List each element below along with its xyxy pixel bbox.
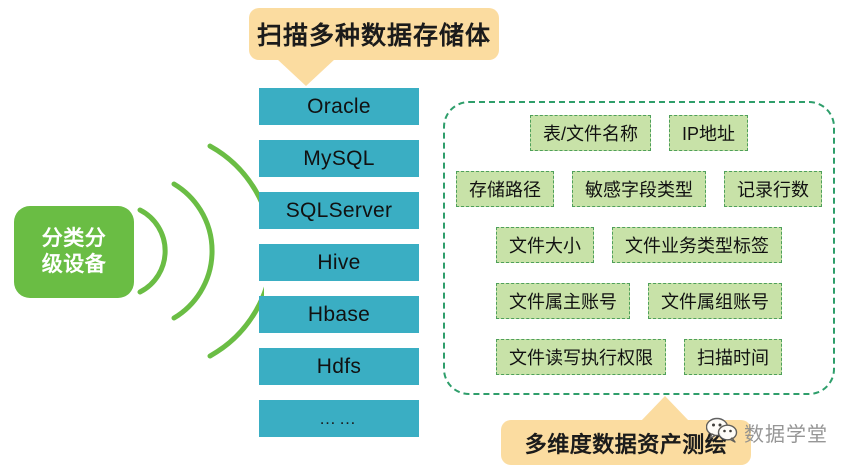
attribute-tag-table-file-name[interactable]: 表/文件名称 — [530, 115, 651, 151]
attribute-tag-sensitive-field-type[interactable]: 敏感字段类型 — [572, 171, 706, 207]
storage-item-label: MySQL — [303, 147, 375, 171]
storage-item-label: SQLServer — [286, 199, 393, 223]
attribute-tag-file-rwx-permission[interactable]: 文件读写执行权限 — [496, 339, 666, 375]
bottom-callout-pointer — [641, 396, 689, 421]
attribute-tag-label: 敏感字段类型 — [585, 176, 693, 202]
storage-item-label: Oracle — [307, 95, 371, 119]
attribute-tag-label: 记录行数 — [737, 176, 809, 202]
attribute-row: 文件读写执行权限 扫描时间 — [445, 339, 833, 375]
attribute-tag-label: 文件属主账号 — [509, 288, 617, 314]
storage-item-sqlserver[interactable]: SQLServer — [259, 192, 419, 229]
storage-item-oracle[interactable]: Oracle — [259, 88, 419, 125]
storage-item-label: Hive — [317, 251, 360, 275]
diagram-canvas: 扫描多种数据存储体 分类分级设备 Oracle MySQL SQLServer … — [0, 0, 868, 473]
attribute-tag-scan-time[interactable]: 扫描时间 — [684, 339, 782, 375]
attribute-tag-file-business-type-label[interactable]: 文件业务类型标签 — [612, 227, 782, 263]
storage-item-more[interactable]: …… — [259, 400, 419, 437]
attribute-row: 存储路径 敏感字段类型 记录行数 — [445, 171, 833, 207]
watermark-text: 数据学堂 — [744, 418, 828, 447]
attribute-tag-label: 文件业务类型标签 — [625, 232, 769, 258]
attribute-tag-label: 文件属组账号 — [661, 288, 769, 314]
attribute-panel: 表/文件名称 IP地址 存储路径 敏感字段类型 记录行数 文件大小 文件业务类型… — [443, 101, 835, 395]
attribute-tag-record-count[interactable]: 记录行数 — [724, 171, 822, 207]
bottom-callout-label: 多维度数据资产测绘 — [525, 427, 728, 459]
wechat-icon — [706, 417, 738, 448]
storage-type-list: Oracle MySQL SQLServer Hive Hbase Hdfs …… — [259, 88, 419, 452]
top-callout-label: 扫描多种数据存储体 — [257, 16, 491, 52]
watermark: 数据学堂 — [706, 417, 828, 448]
storage-item-label: Hdfs — [317, 355, 361, 379]
attribute-tag-storage-path[interactable]: 存储路径 — [456, 171, 554, 207]
attribute-row: 文件大小 文件业务类型标签 — [445, 227, 833, 263]
attribute-tag-label: 文件大小 — [509, 232, 581, 258]
storage-item-hive[interactable]: Hive — [259, 244, 419, 281]
top-callout: 扫描多种数据存储体 — [249, 8, 499, 60]
top-callout-pointer — [277, 59, 335, 86]
attribute-tag-label: 文件读写执行权限 — [509, 344, 653, 370]
attribute-tag-label: IP地址 — [682, 120, 735, 146]
storage-item-mysql[interactable]: MySQL — [259, 140, 419, 177]
attribute-row: 文件属主账号 文件属组账号 — [445, 283, 833, 319]
attribute-tag-file-size[interactable]: 文件大小 — [496, 227, 594, 263]
attribute-tag-ip-address[interactable]: IP地址 — [669, 115, 748, 151]
attribute-tag-label: 扫描时间 — [697, 344, 769, 370]
storage-item-hbase[interactable]: Hbase — [259, 296, 419, 333]
classification-device-box: 分类分级设备 — [14, 206, 134, 298]
storage-item-label: …… — [319, 409, 359, 429]
attribute-row: 表/文件名称 IP地址 — [445, 115, 833, 151]
attribute-tag-label: 存储路径 — [469, 176, 541, 202]
storage-item-hdfs[interactable]: Hdfs — [259, 348, 419, 385]
storage-item-label: Hbase — [308, 303, 370, 327]
classification-device-label: 分类分级设备 — [42, 226, 107, 277]
attribute-tag-label: 表/文件名称 — [543, 120, 638, 146]
signal-waves-icon — [136, 126, 264, 376]
attribute-tag-file-group-account[interactable]: 文件属组账号 — [648, 283, 782, 319]
attribute-tag-file-owner-account[interactable]: 文件属主账号 — [496, 283, 630, 319]
